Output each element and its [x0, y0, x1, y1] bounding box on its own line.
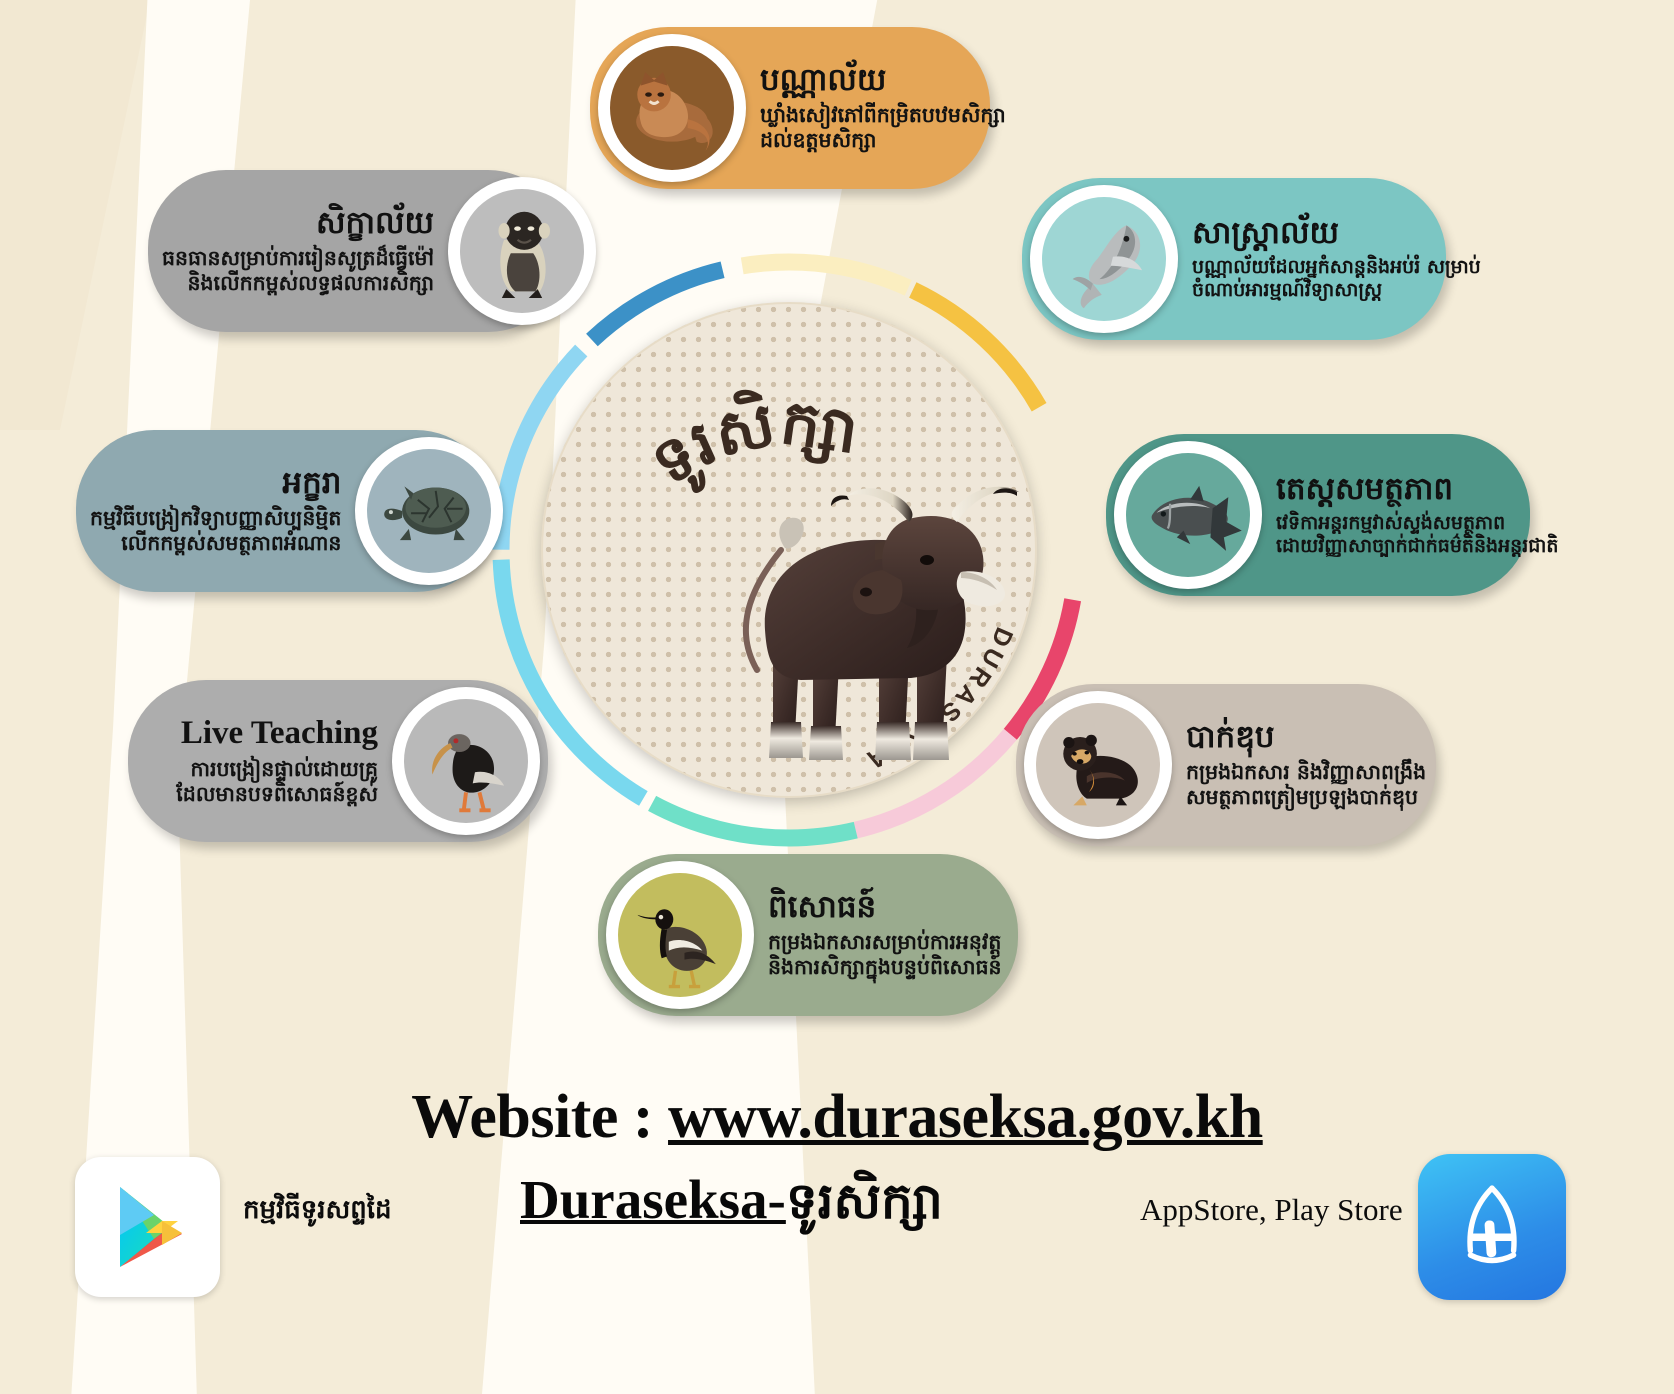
douc-langur-icon [466, 195, 578, 307]
website-label: Website : [411, 1083, 653, 1151]
store-names: AppStore, Play Store [1140, 1192, 1403, 1228]
card-library-text: បណ្ណាល័យ ឃ្លាំងសៀវភៅពីកម្រិតបឋមសិក្សា ដល… [746, 57, 1020, 159]
website-url[interactable]: www.duraseksa.gov.kh [668, 1083, 1263, 1151]
card-live-teaching-badge [392, 687, 540, 835]
card-science-hall-sub-1: បណ្ណាល័យដែលអ្នកំសាន្តនិងអប់រំ សម្រាប់ [1192, 256, 1481, 279]
card-science-hall-text: សាស្ត្រាល័យ បណ្ណាល័យដែលអ្នកំសាន្តនិងអប់រ… [1178, 210, 1495, 308]
card-experiment-badge [606, 861, 754, 1009]
card-library-title: បណ្ណាល័យ [760, 63, 1006, 99]
card-bacii-title: បាក់ឌុប [1186, 720, 1426, 756]
card-capacity-test-sub-1: វេទិកាអន្តរកម្មវាស់ស្ទង់សមត្ថភាព [1276, 512, 1558, 535]
infographic-canvas: ទូរសិក្សា DURASEKSA [0, 0, 1674, 1394]
google-play-icon [98, 1177, 198, 1277]
card-akara-sub-2: លើកកម្ពស់សមត្ថភាពអំណាន [90, 531, 341, 556]
card-science-hall-title: សាស្ត្រាល័យ [1192, 216, 1481, 252]
card-capacity-test[interactable]: តេស្តសមត្ថភាព វេទិកាអន្តរកម្មវាស់ស្ទង់សម… [1106, 434, 1530, 596]
apple-appstore-icon [1438, 1173, 1546, 1281]
website-line: Website : www.duraseksa.gov.kh [0, 1082, 1674, 1153]
card-library-badge [598, 34, 746, 182]
card-bacii[interactable]: បាក់ឌុប កម្រងឯកសារ និងវិញ្ញាសាពង្រឹង សមត… [1016, 684, 1436, 846]
center-ring: ទូរសិក្សា DURASEKSA [489, 250, 1089, 850]
app-name-latin: Duraseksa- [520, 1169, 786, 1230]
card-akara-sub-1: កម្មវិធីបង្រៀកវិទ្យាបញ្ញាសិប្បនិម្មិត [90, 506, 341, 531]
card-live-teaching[interactable]: Live Teaching ការបង្រៀនផ្ទាល់ដោយគ្រូ ដែល… [128, 680, 548, 842]
card-science-hall-sub-2: ចំណាប់អារម្មណ៍វិទ្យាសាស្ត្រ [1192, 279, 1481, 302]
card-study-hall-sub-1: ធនធានសម្រាប់ការរៀនសូត្រដ៏ធ្វើម៉ៅ [162, 246, 434, 271]
card-library[interactable]: បណ្ណាល័យ ឃ្លាំងសៀវភៅពីកម្រិតបឋមសិក្សា ដល… [590, 27, 990, 189]
turtle-icon [373, 455, 485, 567]
card-library-sub-2: ដល់ឧត្តមសិក្សា [760, 128, 1006, 153]
kouprey-illustration [661, 422, 1021, 782]
card-bacii-text: បាក់ឌុប កម្រងឯកសារ និងវិញ្ញាសាពង្រឹង សមត… [1172, 714, 1440, 816]
fish-icon [1132, 459, 1244, 571]
app-name: Duraseksa-ទូរសិក្សា [520, 1168, 943, 1243]
card-study-hall-badge [448, 177, 596, 325]
mobile-app-label: កម្មវិធីទូរសព្ទដៃ [243, 1193, 392, 1231]
card-study-hall-text: សិក្ខាល័យ ធនធានសម្រាប់ការរៀនសូត្រដ៏ធ្វើម… [148, 200, 448, 302]
card-experiment-text: ពិសោធន៍ កម្រងឯកសារសម្រាប់ការអនុវត្ត និងក… [754, 884, 1018, 986]
card-akara[interactable]: អក្ខរា កម្មវិធីបង្រៀកវិទ្យាបញ្ញាសិប្បនិម… [76, 430, 494, 592]
card-capacity-test-sub-2: ដោយវិញ្ញាសាច្បាក់ជាក់ធម៌តិនិងអន្តរជាតិ [1276, 535, 1558, 558]
card-experiment-title: ពិសោធន៍ [768, 890, 1004, 926]
card-live-teaching-text: Live Teaching ការបង្រៀនផ្ទាល់ដោយគ្រូ ដែល… [128, 709, 392, 813]
card-experiment-sub-2: និងការសិក្សាក្នុងបន្ទប់ពិសោធន៍ [768, 955, 1004, 980]
logo-disc: ទូរសិក្សា DURASEKSA [541, 302, 1037, 798]
card-capacity-test-text: តេស្តសមត្ថភាព វេទិកាអន្តរកម្មវាស់ស្ទង់សម… [1262, 466, 1572, 564]
card-akara-title: អក្ខរា [90, 466, 341, 502]
card-study-hall-title: សិក្ខាល័យ [162, 206, 434, 242]
giant-ibis-icon [410, 705, 522, 817]
card-live-teaching-sub-1: ការបង្រៀនផ្ទាល់ដោយគ្រូ [142, 757, 378, 782]
card-capacity-test-badge [1114, 441, 1262, 589]
card-live-teaching-title: Live Teaching [142, 715, 378, 753]
lapwing-bird-icon [624, 879, 736, 991]
background-shape-corner [0, 0, 150, 430]
sun-bear-icon [1042, 709, 1154, 821]
card-library-sub-1: ឃ្លាំងសៀវភៅពីកម្រិតបឋមសិក្សា [760, 103, 1006, 128]
card-bacii-sub-2: សមត្ថភាពត្រៀមប្រឡងបាក់ឌុប [1186, 785, 1426, 810]
card-live-teaching-sub-2: ដែលមានបទពិសោធន៍ខ្ពស់ [142, 782, 378, 807]
google-play-badge[interactable] [75, 1157, 220, 1297]
golden-cat-icon [616, 52, 728, 164]
card-experiment-sub-1: កម្រងឯកសារសម្រាប់ការអនុវត្ត [768, 930, 1004, 955]
card-study-hall-sub-2: និងលើកកម្ពស់លទ្ធផលការសិក្សា [162, 271, 434, 296]
appstore-badge[interactable] [1418, 1154, 1566, 1300]
card-akara-text: អក្ខរា កម្មវិធីបង្រៀកវិទ្យាបញ្ញាសិប្បនិម… [76, 460, 355, 562]
card-bacii-badge [1024, 691, 1172, 839]
app-name-khmer: ទូរសិក្សា [786, 1172, 943, 1230]
card-capacity-test-title: តេស្តសមត្ថភាព [1276, 472, 1558, 508]
card-experiment[interactable]: ពិសោធន៍ កម្រងឯកសារសម្រាប់ការអនុវត្ត និងក… [598, 854, 1018, 1016]
card-bacii-sub-1: កម្រងឯកសារ និងវិញ្ញាសាពង្រឹង [1186, 760, 1426, 785]
dugong-icon [1048, 203, 1160, 315]
card-science-hall-badge [1030, 185, 1178, 333]
card-science-hall[interactable]: សាស្ត្រាល័យ បណ្ណាល័យដែលអ្នកំសាន្តនិងអប់រ… [1022, 178, 1446, 340]
card-study-hall[interactable]: សិក្ខាល័យ ធនធានសម្រាប់ការរៀនសូត្រដ៏ធ្វើម… [148, 170, 566, 332]
card-akara-badge [355, 437, 503, 585]
